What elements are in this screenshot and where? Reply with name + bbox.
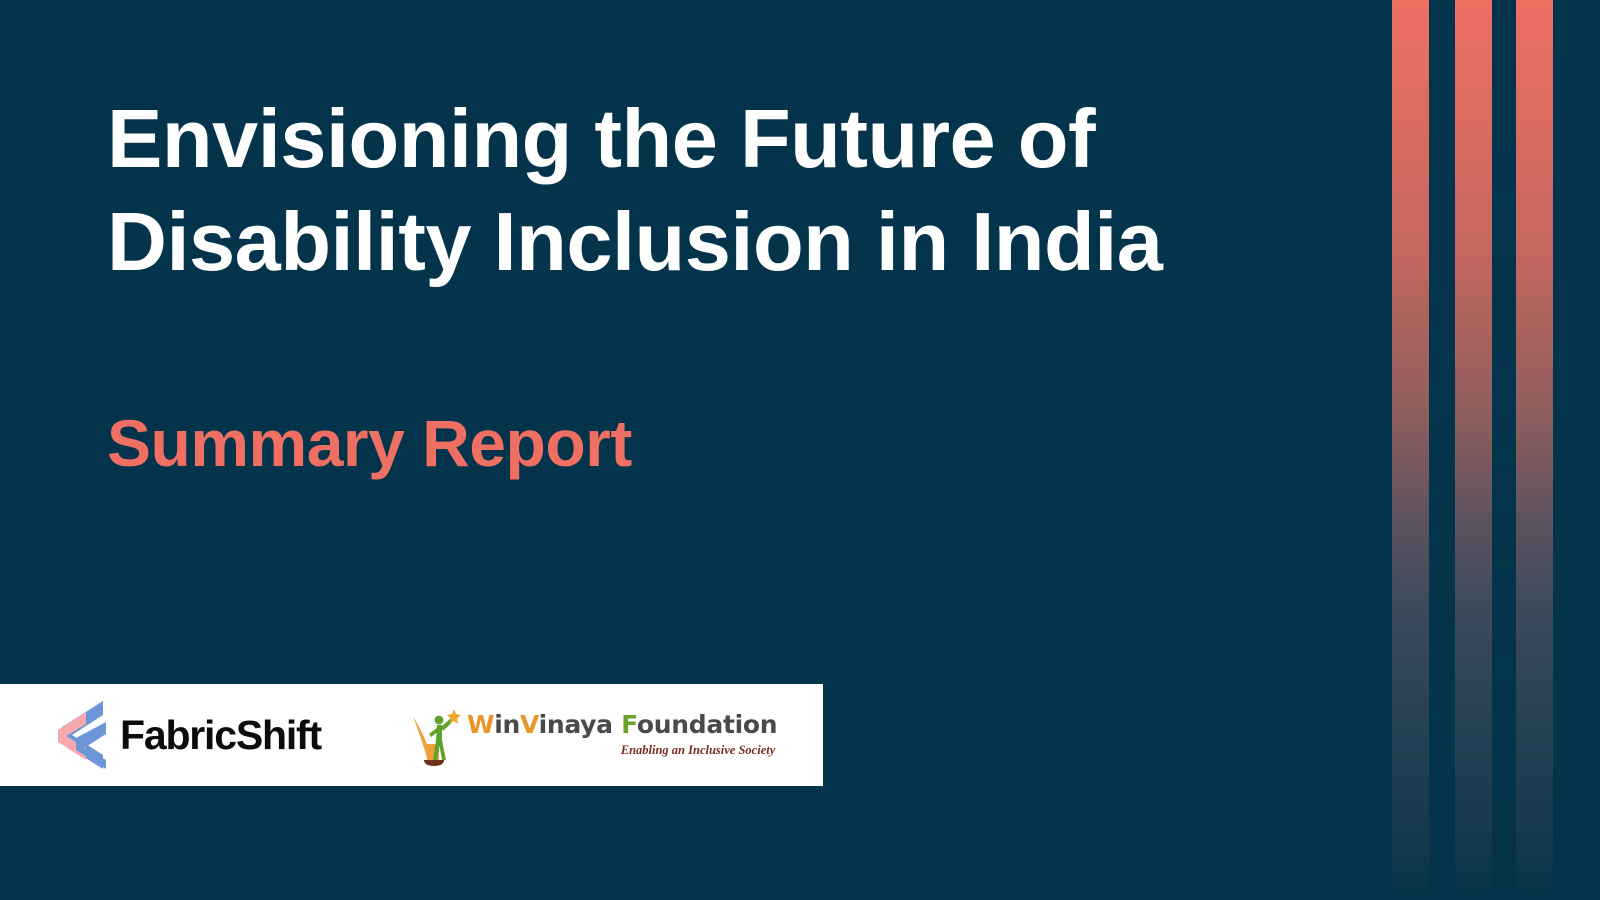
winvinaya-letters-in: in: [494, 710, 520, 739]
winvinaya-figure-mark: [411, 704, 463, 766]
title-slide: Envisioning the Future of Disability Inc…: [0, 0, 1600, 900]
decorative-stripes: [1340, 0, 1600, 900]
slide-title: Envisioning the Future of Disability Inc…: [107, 88, 1307, 294]
winvinaya-space: [613, 710, 621, 739]
fabricshift-chevron-mark: [56, 698, 114, 772]
winvinaya-letters-oundation: oundation: [637, 710, 777, 739]
winvinaya-letter-w: W: [467, 710, 494, 739]
logo-bar: FabricShift WinVinaya Foundation: [0, 684, 823, 786]
stripe-1: [1392, 0, 1429, 900]
winvinaya-logo: WinVinaya Foundation Enabling an Inclusi…: [411, 704, 777, 766]
winvinaya-letter-f: F: [621, 710, 637, 739]
stripe-3: [1516, 0, 1553, 900]
fabricshift-logo: FabricShift: [56, 698, 321, 772]
winvinaya-wordmark: WinVinaya Foundation: [467, 712, 777, 738]
winvinaya-letter-v: V: [520, 710, 539, 739]
fabricshift-wordmark: FabricShift: [120, 712, 321, 759]
winvinaya-tagline: Enabling an Inclusive Society: [621, 743, 776, 758]
winvinaya-text: WinVinaya Foundation Enabling an Inclusi…: [467, 712, 777, 757]
stripe-2: [1455, 0, 1492, 900]
winvinaya-letters-inaya: inaya: [539, 710, 613, 739]
slide-subtitle: Summary Report: [107, 407, 632, 480]
